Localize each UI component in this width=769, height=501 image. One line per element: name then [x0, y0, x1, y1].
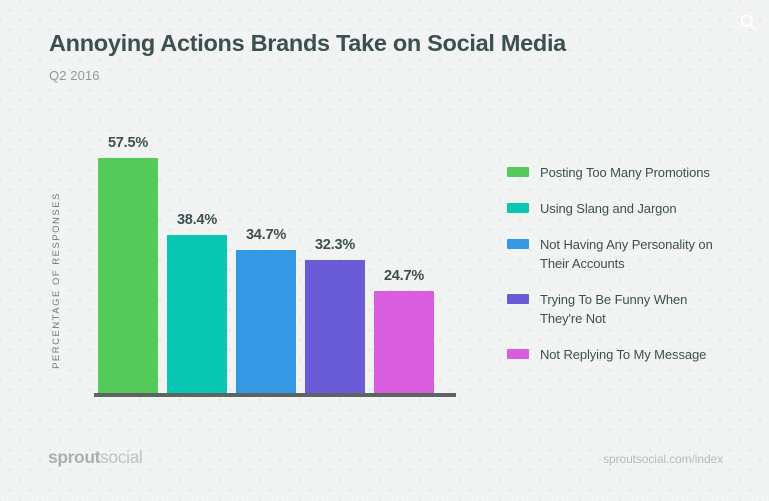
bar-rect[interactable] — [98, 158, 158, 393]
bar-group[interactable]: 38.4% — [167, 135, 227, 393]
infographic-page: Annoying Actions Brands Take on Social M… — [0, 0, 769, 501]
legend-item-label: Posting Too Many Promotions — [540, 163, 710, 182]
sprout-social-logo[interactable]: sproutsocial — [48, 447, 142, 468]
legend-item-label: Trying To Be Funny When They're Not — [540, 290, 732, 328]
bar-rect[interactable] — [374, 291, 434, 393]
bar-chart: PERCENTAGE OF RESPONSES 57.5% 38.4% 34.7… — [44, 120, 464, 405]
legend-item-label: Not Replying To My Message — [540, 345, 706, 364]
chart-legend: Posting Too Many Promotions Using Slang … — [507, 163, 732, 381]
logo-bold-text: sprout — [48, 447, 100, 467]
legend-item[interactable]: Not Having Any Personality on Their Acco… — [507, 235, 732, 273]
legend-item[interactable]: Trying To Be Funny When They're Not — [507, 290, 732, 328]
legend-item[interactable]: Not Replying To My Message — [507, 345, 732, 364]
logo-light-text: social — [100, 447, 142, 467]
legend-item[interactable]: Using Slang and Jargon — [507, 199, 732, 218]
bar-value-label: 24.7% — [384, 268, 424, 284]
footer-url: sproutsocial.com/index — [603, 452, 723, 466]
plot-area: 57.5% 38.4% 34.7% 32.3% 24.7% — [84, 120, 464, 395]
bar-rect[interactable] — [305, 260, 365, 393]
bar-group[interactable]: 24.7% — [374, 135, 434, 393]
bar-group[interactable]: 34.7% — [236, 135, 296, 393]
legend-color-swatch — [507, 203, 529, 213]
search-icon[interactable] — [735, 9, 761, 35]
bar-value-label: 57.5% — [108, 135, 148, 151]
legend-color-swatch — [507, 167, 529, 177]
bar-value-label: 34.7% — [246, 227, 286, 243]
bar-rect[interactable] — [167, 235, 227, 393]
legend-item-label: Not Having Any Personality on Their Acco… — [540, 235, 732, 273]
axis-baseline — [94, 393, 456, 397]
bar-rect[interactable] — [236, 250, 296, 393]
y-axis-label: PERCENTAGE OF RESPONSES — [47, 165, 65, 395]
legend-color-swatch — [507, 349, 529, 359]
legend-color-swatch — [507, 239, 529, 249]
bar-value-label: 32.3% — [315, 237, 355, 253]
bar-value-label: 38.4% — [177, 212, 217, 228]
legend-item[interactable]: Posting Too Many Promotions — [507, 163, 732, 182]
bar-group[interactable]: 32.3% — [305, 135, 365, 393]
page-subtitle: Q2 2016 — [49, 68, 649, 83]
y-axis-label-text: PERCENTAGE OF RESPONSES — [51, 192, 62, 369]
page-title: Annoying Actions Brands Take on Social M… — [49, 28, 649, 58]
bar-series: 57.5% 38.4% 34.7% 32.3% 24.7% — [98, 135, 434, 393]
legend-color-swatch — [507, 294, 529, 304]
header: Annoying Actions Brands Take on Social M… — [49, 28, 649, 83]
bar-group[interactable]: 57.5% — [98, 135, 158, 393]
legend-item-label: Using Slang and Jargon — [540, 199, 677, 218]
